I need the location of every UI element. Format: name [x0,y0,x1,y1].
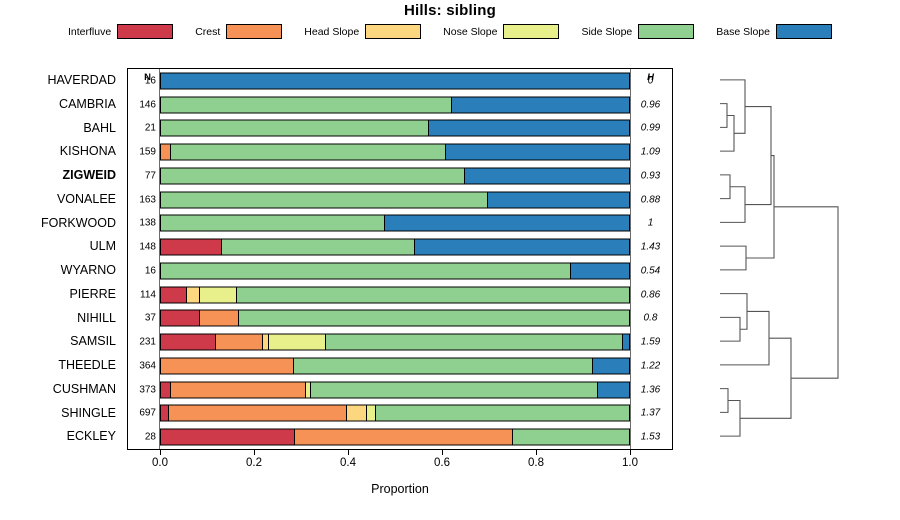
legend-label: Base Slope [716,26,770,38]
stacked-bar [160,215,630,232]
chart-row: 6971.37 [128,402,672,426]
dendrogram [688,62,893,456]
stacked-bar [160,381,630,398]
dendrogram-branch [720,80,745,133]
row-n-value: 159 [128,147,156,158]
bar-segment-base-slope [465,168,629,183]
dendrogram-branch [720,311,769,364]
bar-segment-head-slope [187,287,200,302]
dendrogram-branch [720,401,740,437]
page-title: Hills: sibling [0,2,900,19]
y-axis-label-cushman: CUSHMAN [0,377,122,401]
row-h-value: 0.8 [631,313,670,324]
legend-swatch [776,24,832,39]
y-axis-label-eckley: ECKLEY [0,424,122,448]
legend-item-nose-slope: Nose Slope [443,24,581,39]
chart-row: 770.93 [128,164,672,188]
bar-segment-interfluve [161,240,222,255]
bar-segment-crest [200,311,239,326]
row-h-value: 1.53 [631,432,670,443]
bar-segment-base-slope [161,73,629,88]
chart-row: 1460.96 [128,93,672,117]
row-h-value: 0.88 [631,194,670,205]
y-axis-label-vonalee: VONALEE [0,187,122,211]
legend-label: Nose Slope [443,26,497,38]
y-axis-label-samsil: SAMSIL [0,329,122,353]
bar-segment-base-slope [488,192,629,207]
chart-row: 160 [128,69,672,93]
legend-swatch [226,24,282,39]
row-h-value: 1.09 [631,147,670,158]
x-axis-tick-label: 0.2 [246,457,262,469]
bar-segment-side-slope [161,121,429,136]
stacked-bar [160,191,630,208]
chart-row: 281.53 [128,425,672,449]
bar-segment-base-slope [623,335,629,350]
x-axis-title: Proportion [127,482,673,496]
bar-segment-side-slope [171,145,446,160]
chart-row: 3731.36 [128,378,672,402]
legend: InterfluveCrestHead SlopeNose SlopeSide … [0,24,900,39]
y-axis-label-forkwood: FORKWOOD [0,211,122,235]
x-axis-tick-label: 0.8 [528,457,544,469]
bar-segment-base-slope [593,358,629,373]
chart-panel: N H 1601460.96210.991591.09770.931630.88… [127,68,673,450]
bar-segment-side-slope [161,263,571,278]
chart-row: 1140.86 [128,283,672,307]
row-n-value: 364 [128,360,156,371]
bar-segment-crest [169,406,347,421]
stacked-bar [160,334,630,351]
x-axis-tick-label: 0.0 [152,457,168,469]
legend-swatch [117,24,173,39]
bar-segment-side-slope [222,240,415,255]
row-n-value: 21 [128,123,156,134]
legend-swatch [365,24,421,39]
row-h-value: 1.22 [631,360,670,371]
y-axis-label-shingle: SHINGLE [0,401,122,425]
y-axis-label-zigweid: ZIGWEID [0,163,122,187]
x-axis-tick [442,450,443,455]
chart-row: 2311.59 [128,330,672,354]
chart-row: 160.54 [128,259,672,283]
bar-segment-nose-slope [367,406,376,421]
stacked-bar [160,429,630,446]
dendrogram-branch [720,389,728,413]
chart-row: 370.8 [128,307,672,331]
x-axis-tick [160,450,161,455]
row-h-value: 1.36 [631,384,670,395]
legend-label: Interfluve [68,26,111,38]
row-h-value: 0.86 [631,289,670,300]
row-n-value: 148 [128,242,156,253]
y-axis-label-kishona: KISHONA [0,139,122,163]
bar-segment-side-slope [513,430,630,445]
bar-segment-crest [161,358,294,373]
stacked-bar [160,310,630,327]
bar-segment-crest [216,335,263,350]
row-h-value: 1.59 [631,337,670,348]
x-axis-tick-label: 0.4 [340,457,356,469]
chart-row: 1630.88 [128,188,672,212]
chart-row: 1591.09 [128,140,672,164]
bar-segment-base-slope [385,216,629,231]
y-axis-label-haverdad: HAVERDAD [0,68,122,92]
legend-label: Crest [195,26,220,38]
legend-item-interfluve: Interfluve [68,24,195,39]
y-axis-label-bahl: BAHL [0,116,122,140]
x-axis-tick [348,450,349,455]
dendrogram-branch [720,246,746,270]
stacked-bar [160,262,630,279]
bar-segment-base-slope [429,121,629,136]
bar-segment-interfluve [161,335,216,350]
stacked-bar [160,96,630,113]
y-axis-labels: HAVERDADCAMBRIABAHLKISHONAZIGWEIDVONALEE… [0,68,122,450]
row-n-value: 138 [128,218,156,229]
bar-segment-interfluve [161,287,187,302]
bar-segment-base-slope [571,263,629,278]
bar-segment-side-slope [161,216,385,231]
dendrogram-branch [720,294,747,330]
bar-segment-crest [295,430,513,445]
legend-item-side-slope: Side Slope [581,24,716,39]
chart-row: 3641.22 [128,354,672,378]
bar-segment-interfluve [161,382,171,397]
bar-segment-side-slope [326,335,623,350]
row-n-value: 163 [128,194,156,205]
bar-segment-head-slope [347,406,367,421]
row-n-value: 114 [128,289,156,300]
x-axis-tick [254,450,255,455]
row-h-value: 0.93 [631,170,670,181]
row-h-value: 0.96 [631,99,670,110]
dendrogram-branch [745,107,771,205]
row-h-value: 1.43 [631,242,670,253]
row-n-value: 37 [128,313,156,324]
chart-row: 1481.43 [128,235,672,259]
bar-segment-side-slope [161,168,465,183]
y-axis-label-theedle: THEEDLE [0,353,122,377]
x-axis-tick [630,450,631,455]
bar-segment-interfluve [161,406,169,421]
row-n-value: 28 [128,432,156,443]
dendrogram-branch [720,104,727,128]
y-axis-label-nihill: NIHILL [0,306,122,330]
bar-segment-crest [161,145,171,160]
y-axis-label-wyarno: WYARNO [0,258,122,282]
bar-segment-interfluve [161,430,295,445]
row-n-value: 77 [128,170,156,181]
dendrogram-svg [688,62,893,456]
stacked-bar [160,239,630,256]
row-n-value: 16 [128,265,156,276]
row-n-value: 146 [128,99,156,110]
y-axis-label-ulm: ULM [0,234,122,258]
legend-item-crest: Crest [195,24,304,39]
row-n-value: 16 [128,75,156,86]
legend-label: Side Slope [581,26,632,38]
bar-segment-side-slope [311,382,598,397]
chart-row: 1381 [128,212,672,236]
legend-item-head-slope: Head Slope [304,24,443,39]
stacked-bar [160,286,630,303]
stacked-bar [160,357,630,374]
row-h-value: 0.54 [631,265,670,276]
bar-segment-nose-slope [200,287,238,302]
bar-segment-crest [171,382,307,397]
dendrogram-branch [720,317,740,341]
bar-segment-nose-slope [269,335,326,350]
bar-segment-base-slope [415,240,629,255]
legend-swatch [503,24,559,39]
dendrogram-branch [720,175,730,199]
row-n-value: 231 [128,337,156,348]
stacked-bar [160,167,630,184]
dendrogram-branch [740,338,791,418]
stacked-bar [160,72,630,89]
stacked-bar [160,144,630,161]
x-axis-tick-label: 0.6 [434,457,450,469]
row-h-value: 1.37 [631,408,670,419]
bar-segment-side-slope [237,287,629,302]
stacked-bar [160,405,630,422]
row-h-value: 0.99 [631,123,670,134]
legend-label: Head Slope [304,26,359,38]
bar-segment-interfluve [161,311,200,326]
stacked-bar [160,120,630,137]
bar-segment-base-slope [452,97,629,112]
row-h-value: 1 [631,218,670,229]
bar-segment-base-slope [446,145,629,160]
row-n-value: 697 [128,408,156,419]
y-axis-label-cambria: CAMBRIA [0,92,122,116]
dendrogram-branch [720,187,745,223]
bar-segment-side-slope [294,358,593,373]
x-axis-tick-label: 1.0 [622,457,638,469]
bar-segment-base-slope [598,382,629,397]
row-h-value: 0 [631,75,670,86]
bar-segment-side-slope [376,406,629,421]
legend-item-base-slope: Base Slope [716,24,832,39]
x-axis-tick [536,450,537,455]
chart-row: 210.99 [128,117,672,141]
bar-segment-side-slope [161,192,488,207]
y-axis-label-pierre: PIERRE [0,282,122,306]
row-n-value: 373 [128,384,156,395]
dendrogram-branch [746,156,774,258]
bar-segment-side-slope [239,311,630,326]
bar-segment-side-slope [161,97,452,112]
legend-swatch [638,24,694,39]
dendrogram-branch [774,207,838,378]
